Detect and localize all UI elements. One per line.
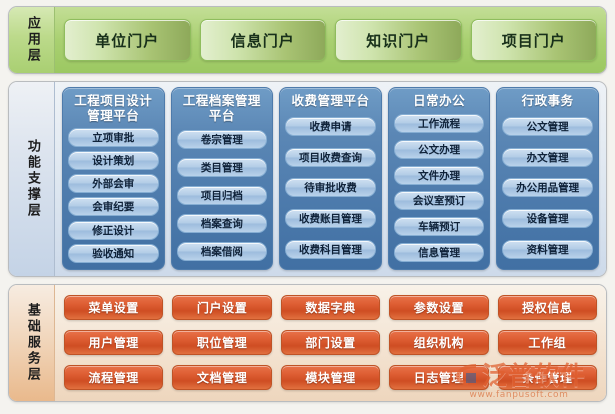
service-button-condition-management[interactable]: 条件管理 — [498, 365, 597, 390]
module-item[interactable]: 会审纪要 — [68, 197, 159, 216]
service-button-module-management[interactable]: 模块管理 — [281, 365, 380, 390]
service-button-process-management[interactable]: 流程管理 — [64, 365, 163, 390]
module-item[interactable]: 收费科目管理 — [285, 240, 376, 259]
service-button-user-management[interactable]: 用户管理 — [64, 330, 163, 355]
module-title: 日常办公 — [394, 92, 485, 112]
module-item-list: 公文管理 办文管理 办公用品管理 设备管理 资料管理 — [502, 112, 593, 264]
application-layer-label-text: 应用层 — [23, 16, 40, 64]
application-layer-label: 应用层 — [9, 7, 55, 73]
base-service-row: 用户管理 职位管理 部门设置 组织机构 工作组 — [64, 327, 597, 358]
module-item[interactable]: 会议室预订 — [394, 191, 485, 210]
module-item[interactable]: 信息管理 — [394, 243, 485, 262]
module-item[interactable]: 待审批收费 — [285, 178, 376, 197]
module-item[interactable]: 办公用品管理 — [502, 178, 593, 197]
function-support-layer: 功能支撑层 工程项目设计管理平台 立项审批 设计策划 外部会审 会审纪要 修正设… — [8, 81, 607, 277]
module-item[interactable]: 项目收费查询 — [285, 148, 376, 167]
portal-button-knowledge[interactable]: 知识门户 — [335, 19, 462, 61]
function-support-layer-label: 功能支撑层 — [9, 82, 55, 276]
module-item[interactable]: 车辆预订 — [394, 217, 485, 236]
module-item[interactable]: 公文管理 — [502, 117, 593, 136]
module-item[interactable]: 资料管理 — [502, 240, 593, 259]
portal-button-project[interactable]: 项目门户 — [471, 19, 598, 61]
module-item[interactable]: 文件办理 — [394, 166, 485, 185]
module-item[interactable]: 外部会审 — [68, 174, 159, 193]
function-support-layer-label-text: 功能支撑层 — [23, 139, 40, 219]
service-button-document-management[interactable]: 文档管理 — [172, 365, 271, 390]
module-title: 行政事务 — [502, 92, 593, 112]
module-item[interactable]: 公文办理 — [394, 140, 485, 159]
module-item[interactable]: 工作流程 — [394, 114, 485, 133]
base-service-layer-body: 菜单设置 门户设置 数据字典 参数设置 授权信息 用户管理 职位管理 部门设置 … — [55, 285, 606, 401]
service-button-department-settings[interactable]: 部门设置 — [281, 330, 380, 355]
module-column-archive-management: 工程档案管理平台 卷宗管理 类目管理 项目归档 档案查询 档案借阅 — [171, 87, 274, 270]
base-service-layer-label: 基础服务层 — [9, 285, 55, 401]
module-item[interactable]: 类目管理 — [177, 158, 268, 177]
module-column-fee-management: 收费管理平台 收费申请 项目收费查询 待审批收费 收费账目管理 收费科目管理 — [279, 87, 382, 270]
application-layer-body: 单位门户 信息门户 知识门户 项目门户 — [55, 7, 606, 73]
service-button-menu-settings[interactable]: 菜单设置 — [64, 295, 163, 320]
service-button-log-management[interactable]: 日志管理 — [389, 365, 488, 390]
module-item-list: 收费申请 项目收费查询 待审批收费 收费账目管理 收费科目管理 — [285, 112, 376, 264]
service-button-authorization-info[interactable]: 授权信息 — [498, 295, 597, 320]
module-title: 工程档案管理平台 — [177, 92, 268, 127]
module-item[interactable]: 立项审批 — [68, 128, 159, 147]
service-button-portal-settings[interactable]: 门户设置 — [172, 295, 271, 320]
base-service-row: 流程管理 文档管理 模块管理 日志管理 条件管理 — [64, 362, 597, 393]
module-column-daily-office: 日常办公 工作流程 公文办理 文件办理 会议室预订 车辆预订 信息管理 — [388, 87, 491, 270]
service-button-data-dictionary[interactable]: 数据字典 — [281, 295, 380, 320]
service-button-work-group[interactable]: 工作组 — [498, 330, 597, 355]
service-button-position-management[interactable]: 职位管理 — [172, 330, 271, 355]
module-column-design-management: 工程项目设计管理平台 立项审批 设计策划 外部会审 会审纪要 修正设计 验收通知 — [62, 87, 165, 270]
function-support-layer-body: 工程项目设计管理平台 立项审批 设计策划 外部会审 会审纪要 修正设计 验收通知… — [55, 82, 606, 276]
module-item[interactable]: 设备管理 — [502, 209, 593, 228]
module-item[interactable]: 项目归档 — [177, 186, 268, 205]
portal-button-unit[interactable]: 单位门户 — [64, 19, 191, 61]
base-service-layer: 基础服务层 菜单设置 门户设置 数据字典 参数设置 授权信息 用户管理 职位管理… — [8, 284, 607, 402]
service-button-organization[interactable]: 组织机构 — [389, 330, 488, 355]
module-item[interactable]: 档案查询 — [177, 214, 268, 233]
module-item[interactable]: 办文管理 — [502, 148, 593, 167]
module-item[interactable]: 卷宗管理 — [177, 130, 268, 149]
base-service-layer-label-text: 基础服务层 — [23, 303, 40, 383]
module-item[interactable]: 收费账目管理 — [285, 209, 376, 228]
module-item[interactable]: 验收通知 — [68, 244, 159, 263]
module-item-list: 立项审批 设计策划 外部会审 会审纪要 修正设计 验收通知 — [68, 127, 159, 265]
module-item-list: 卷宗管理 类目管理 项目归档 档案查询 档案借阅 — [177, 127, 268, 265]
module-item[interactable]: 收费申请 — [285, 117, 376, 136]
portal-button-information[interactable]: 信息门户 — [200, 19, 327, 61]
service-button-parameter-settings[interactable]: 参数设置 — [389, 295, 488, 320]
module-title: 工程项目设计管理平台 — [68, 92, 159, 127]
base-service-row: 菜单设置 门户设置 数据字典 参数设置 授权信息 — [64, 292, 597, 323]
module-item[interactable]: 修正设计 — [68, 221, 159, 240]
application-layer: 应用层 单位门户 信息门户 知识门户 项目门户 — [8, 6, 607, 74]
module-item[interactable]: 设计策划 — [68, 151, 159, 170]
architecture-diagram: 应用层 单位门户 信息门户 知识门户 项目门户 功能支撑层 工程项目设计管理平台… — [0, 0, 615, 414]
module-column-administrative-affairs: 行政事务 公文管理 办文管理 办公用品管理 设备管理 资料管理 — [496, 87, 599, 270]
module-item-list: 工作流程 公文办理 文件办理 会议室预订 车辆预订 信息管理 — [394, 112, 485, 264]
module-title: 收费管理平台 — [285, 92, 376, 112]
module-item[interactable]: 档案借阅 — [177, 242, 268, 261]
